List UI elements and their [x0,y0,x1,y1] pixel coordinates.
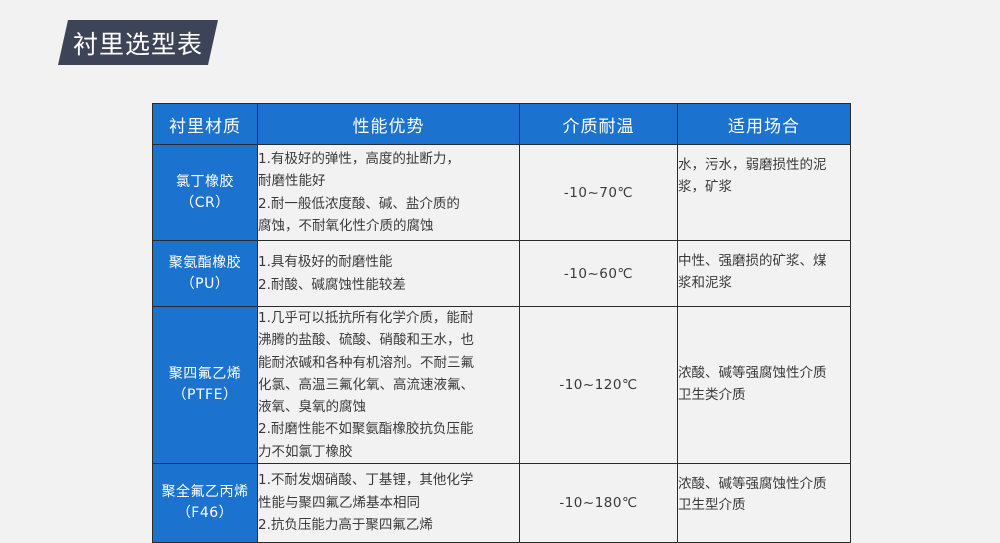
table-row: 聚全氟乙丙烯 （F46） 1.不耐发烟硝酸、丁基锂，其他化学 性能与聚四氟乙烯基… [153,463,851,542]
material-name: 氯丁橡胶 [153,172,257,193]
column-header-material: 衬里材质 [153,104,258,145]
material-abbreviation: （F46） [153,503,257,524]
application-line: 浆和泥浆 [678,273,850,295]
column-header-performance: 性能优势 [258,104,520,145]
performance-line: 1.具有极好的耐磨性能 [258,251,519,273]
cell-material: 聚氨酯橡胶 （PU） [153,241,258,307]
table-header: 衬里材质 性能优势 介质耐温 适用场合 [153,104,851,145]
application-line: 中性、强磨损的矿浆、煤 [678,251,850,273]
application-line: 卫生型介质 [678,495,850,517]
page-title-banner: 衬里选型表 [58,20,218,65]
cell-performance: 1.有极好的弹性，高度的扯断力， 耐磨性能好 2.耐一般低浓度酸、碱、盐介质的 … [258,145,520,241]
performance-line: 2.耐一般低浓度酸、碱、盐介质的 [258,193,519,215]
cell-performance: 1.具有极好的耐磨性能 2.耐酸、碱腐蚀性能较差 [258,241,520,307]
performance-line: 性能与聚四氟乙烯基本相同 [258,492,519,514]
performance-line: 化氯、高温三氟化氧、高流速液氟、 [258,374,519,396]
column-header-application: 适用场合 [678,104,851,145]
performance-line: 耐磨性能好 [258,170,519,192]
material-abbreviation: （CR） [153,193,257,214]
cell-application: 水，污水，弱磨损性的泥 浆，矿浆 [678,145,851,241]
performance-line: 力不如氯丁橡胶 [258,441,519,463]
application-line: 浆，矿浆 [678,177,850,199]
material-name: 聚四氟乙烯 [153,364,257,385]
performance-line: 能耐浓碱和各种有机溶剂。不耐三氟 [258,352,519,374]
page-title: 衬里选型表 [58,20,218,65]
cell-application: 中性、强磨损的矿浆、煤 浆和泥浆 [678,241,851,307]
application-line: 浓酸、碱等强腐蚀性介质 [678,474,850,496]
material-name: 聚全氟乙丙烯 [153,482,257,503]
cell-material: 聚四氟乙烯 （PTFE） [153,307,258,464]
lining-selection-table-container: 衬里材质 性能优势 介质耐温 适用场合 氯丁橡胶 （CR） 1.有极好的弹性，高… [152,103,850,543]
performance-line: 1.几乎可以抵抗所有化学介质，能耐 [258,307,519,329]
material-abbreviation: （PTFE） [153,385,257,406]
cell-application: 浓酸、碱等强腐蚀性介质 卫生型介质 [678,463,851,542]
table-body: 氯丁橡胶 （CR） 1.有极好的弹性，高度的扯断力， 耐磨性能好 2.耐一般低浓… [153,145,851,543]
column-header-temperature: 介质耐温 [520,104,678,145]
table-row: 聚氨酯橡胶 （PU） 1.具有极好的耐磨性能 2.耐酸、碱腐蚀性能较差 -10~… [153,241,851,307]
material-abbreviation: （PU） [153,274,257,295]
cell-material: 聚全氟乙丙烯 （F46） [153,463,258,542]
application-line: 卫生类介质 [678,385,850,407]
cell-temperature: -10~180℃ [520,463,678,542]
application-line: 水，污水，弱磨损性的泥 [678,155,850,177]
table-header-row: 衬里材质 性能优势 介质耐温 适用场合 [153,104,851,145]
lining-selection-table: 衬里材质 性能优势 介质耐温 适用场合 氯丁橡胶 （CR） 1.有极好的弹性，高… [152,103,851,543]
performance-line: 2.抗负压能力高于聚四氟乙烯 [258,514,519,536]
application-line: 浓酸、碱等强腐蚀性介质 [678,363,850,385]
performance-line: 沸腾的盐酸、硫酸、硝酸和王水，也 [258,329,519,351]
cell-temperature: -10~60℃ [520,241,678,307]
cell-temperature: -10~70℃ [520,145,678,241]
table-row: 氯丁橡胶 （CR） 1.有极好的弹性，高度的扯断力， 耐磨性能好 2.耐一般低浓… [153,145,851,241]
performance-line: 2.耐磨性能不如聚氨酯橡胶抗负压能 [258,418,519,440]
performance-line: 液氧、臭氧的腐蚀 [258,396,519,418]
material-name: 聚氨酯橡胶 [153,253,257,274]
cell-material: 氯丁橡胶 （CR） [153,145,258,241]
cell-performance: 1.不耐发烟硝酸、丁基锂，其他化学 性能与聚四氟乙烯基本相同 2.抗负压能力高于… [258,463,520,542]
cell-application: 浓酸、碱等强腐蚀性介质 卫生类介质 [678,307,851,464]
performance-line: 1.不耐发烟硝酸、丁基锂，其他化学 [258,469,519,491]
performance-line: 腐蚀，不耐氧化性介质的腐蚀 [258,215,519,237]
cell-temperature: -10~120℃ [520,307,678,464]
performance-line: 2.耐酸、碱腐蚀性能较差 [258,274,519,296]
cell-performance: 1.几乎可以抵抗所有化学介质，能耐 沸腾的盐酸、硫酸、硝酸和王水，也 能耐浓碱和… [258,307,520,464]
table-row: 聚四氟乙烯 （PTFE） 1.几乎可以抵抗所有化学介质，能耐 沸腾的盐酸、硫酸、… [153,307,851,464]
performance-line: 1.有极好的弹性，高度的扯断力， [258,148,519,170]
